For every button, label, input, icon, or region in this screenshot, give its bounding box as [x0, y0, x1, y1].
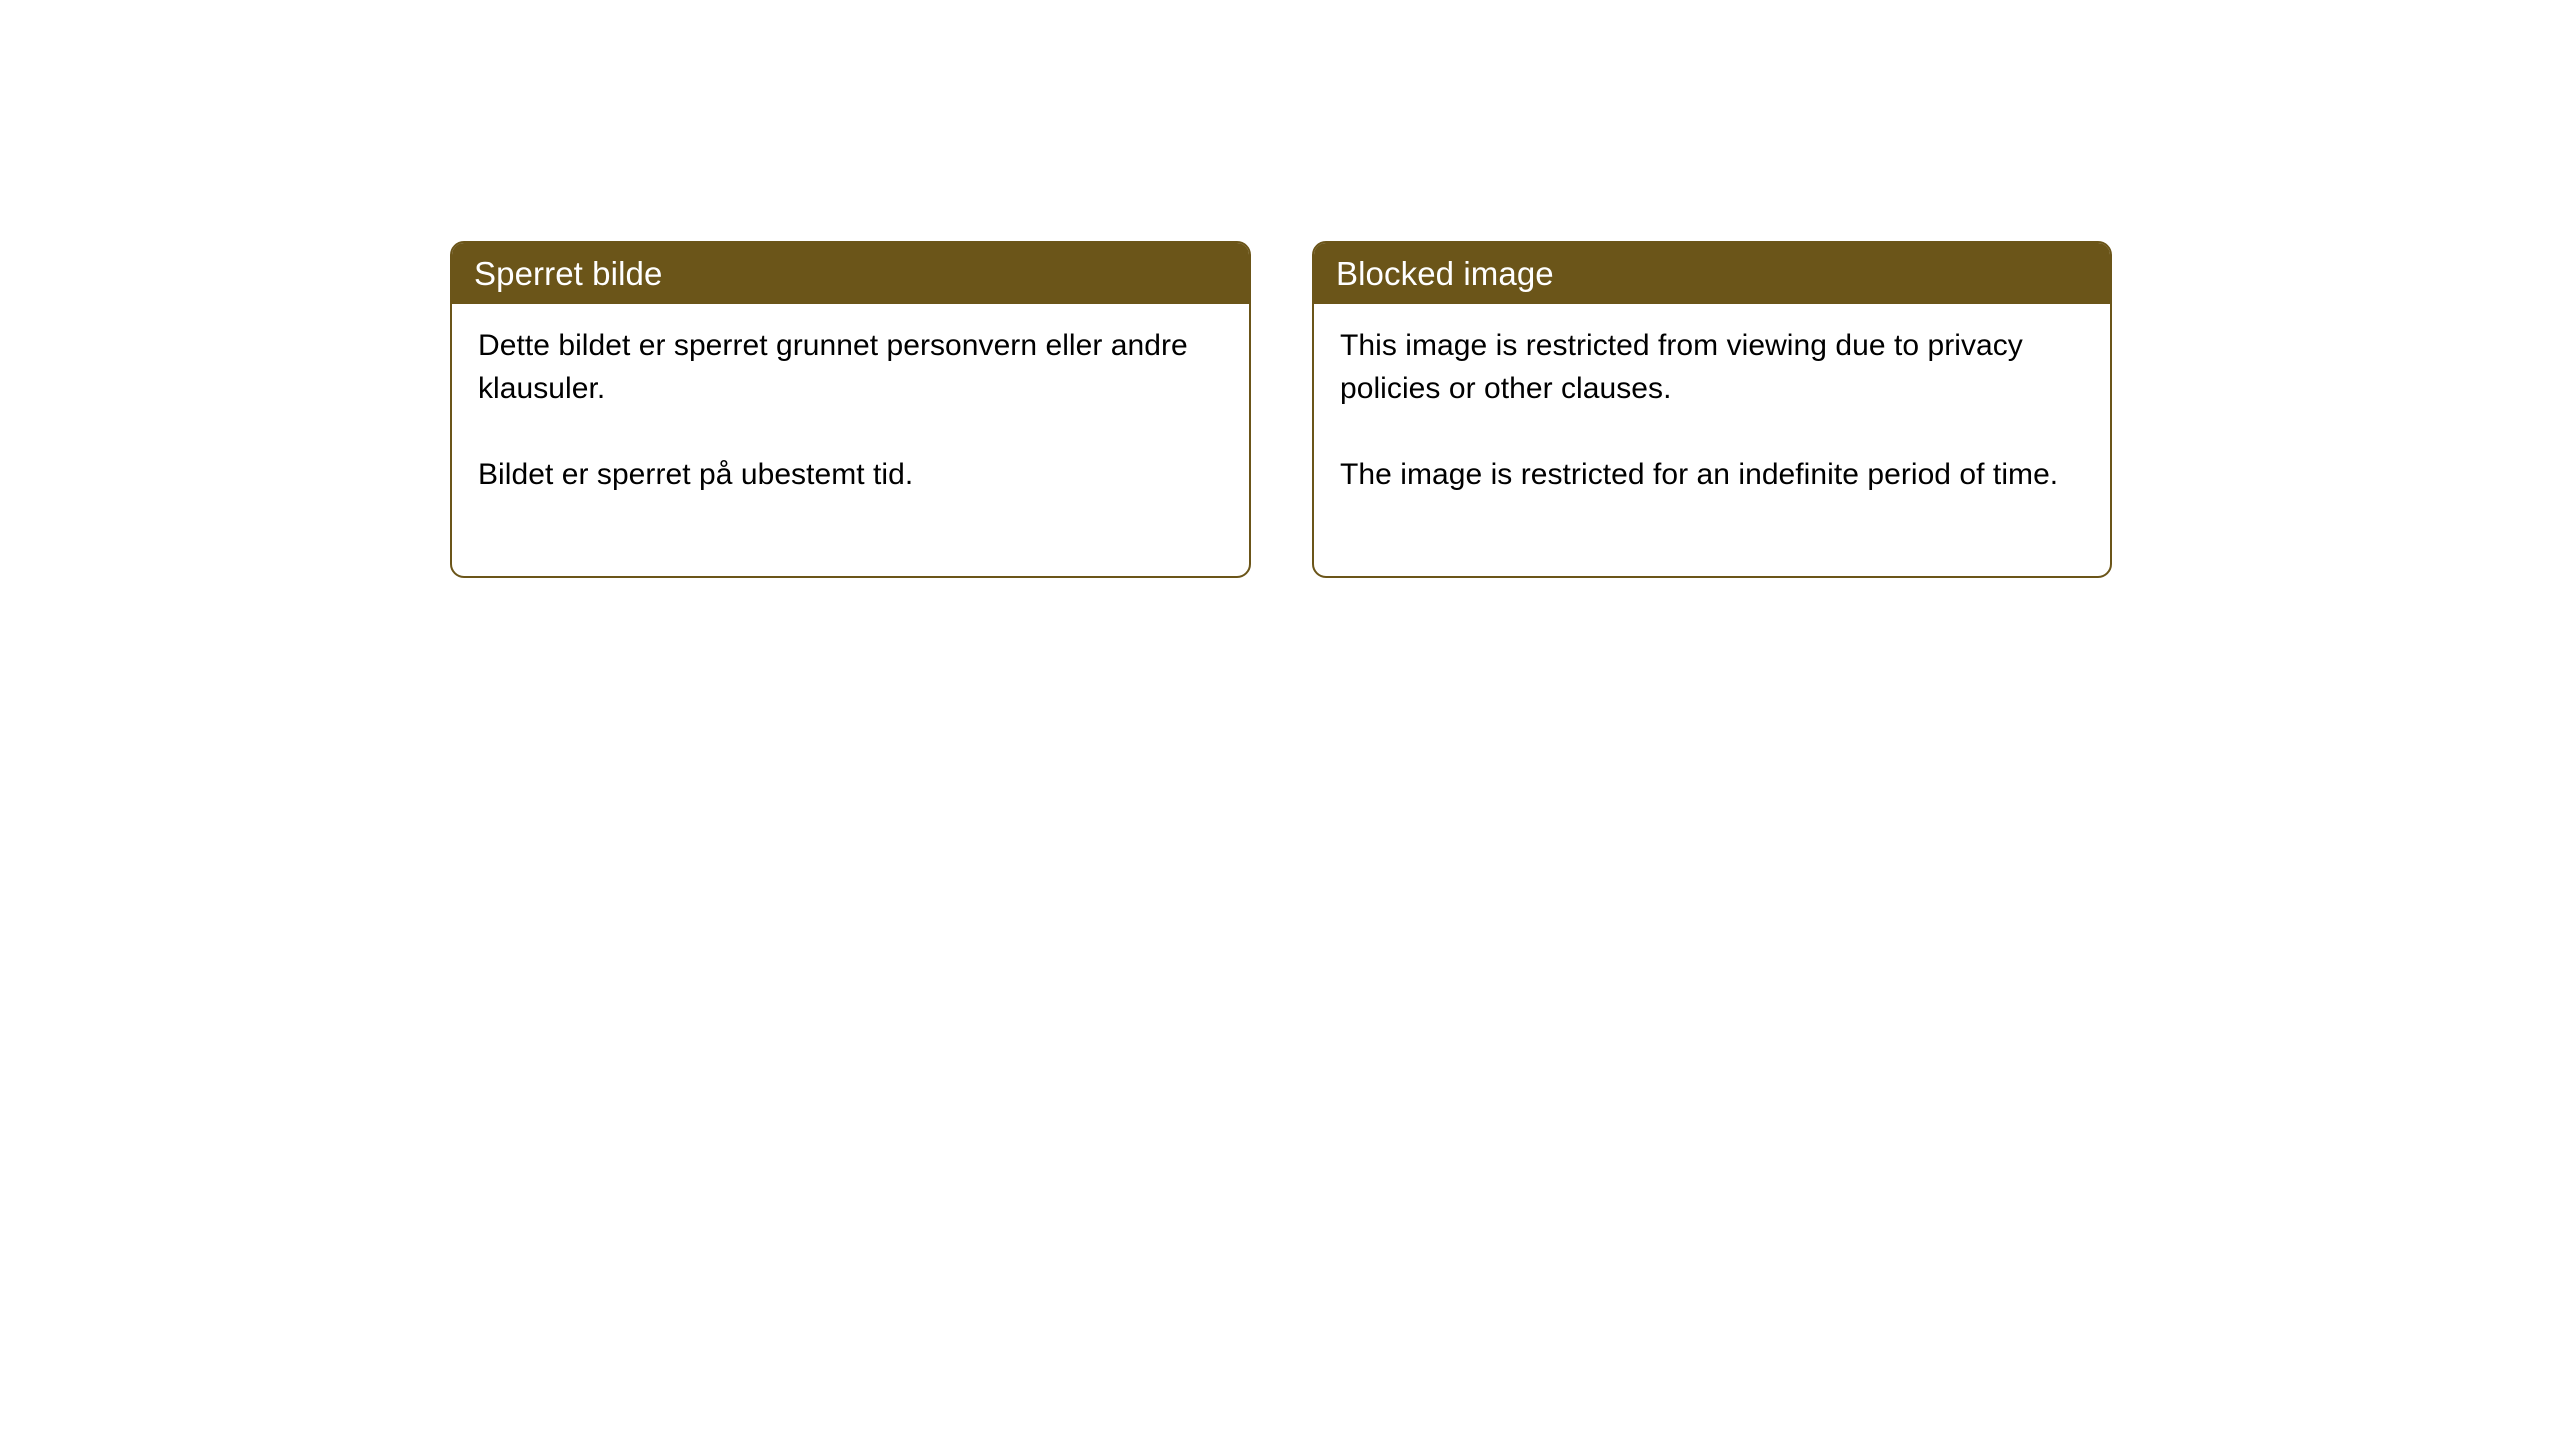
blocked-image-notice-english: Blocked image This image is restricted f…: [1312, 241, 2112, 578]
panel-paragraph: Bildet er sperret på ubestemt tid.: [478, 453, 1223, 496]
panel-body-norwegian: Dette bildet er sperret grunnet personve…: [452, 304, 1249, 576]
panel-title-norwegian: Sperret bilde: [474, 257, 662, 290]
panel-body-english: This image is restricted from viewing du…: [1314, 304, 2110, 576]
blocked-image-notice-norwegian: Sperret bilde Dette bildet er sperret gr…: [450, 241, 1251, 578]
panel-paragraph: This image is restricted from viewing du…: [1340, 324, 2084, 410]
panel-paragraph: Dette bildet er sperret grunnet personve…: [478, 324, 1223, 410]
panel-header-english: Blocked image: [1314, 243, 2110, 304]
panel-title-english: Blocked image: [1336, 257, 1554, 290]
panel-header-norwegian: Sperret bilde: [452, 243, 1249, 304]
page-root: Sperret bilde Dette bildet er sperret gr…: [0, 0, 2560, 1440]
panel-paragraph: The image is restricted for an indefinit…: [1340, 453, 2084, 496]
